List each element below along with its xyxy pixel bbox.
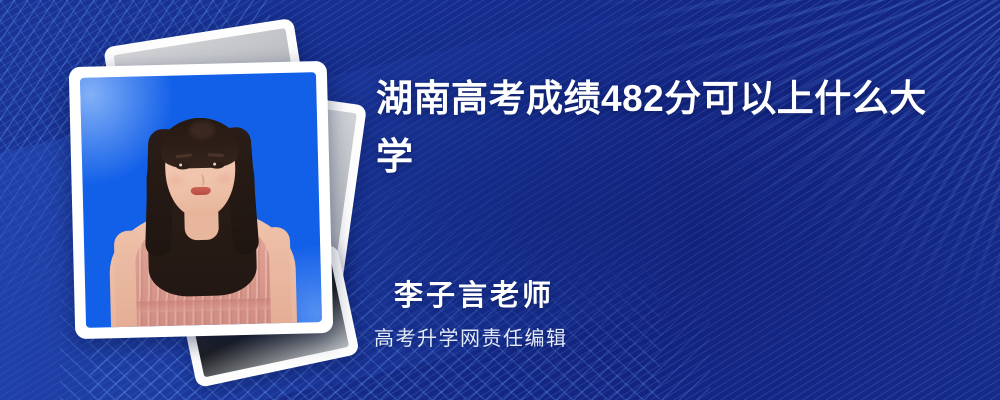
author-photo-frame	[69, 61, 334, 339]
article-title: 湖南高考成绩482分可以上什么大学	[376, 70, 956, 186]
author-name: 李子言老师	[394, 272, 554, 314]
author-role: 高考升学网责任编辑	[374, 322, 568, 351]
portrait-figure	[80, 72, 322, 328]
article-cover-banner: 湖南高考成绩482分可以上什么大学 李子言老师 高考升学网责任编辑	[0, 0, 1000, 400]
portrait-eye-right	[210, 161, 224, 168]
author-photo	[80, 72, 322, 328]
headline-block: 湖南高考成绩482分可以上什么大学	[376, 70, 956, 186]
portrait-lips	[191, 186, 211, 194]
portrait-nose	[196, 174, 204, 186]
photo-card-stack	[58, 28, 358, 358]
portrait-eyebrow-right	[208, 153, 224, 157]
portrait-eye-highlight-left	[179, 163, 182, 166]
portrait-eye-highlight-right	[213, 163, 216, 166]
